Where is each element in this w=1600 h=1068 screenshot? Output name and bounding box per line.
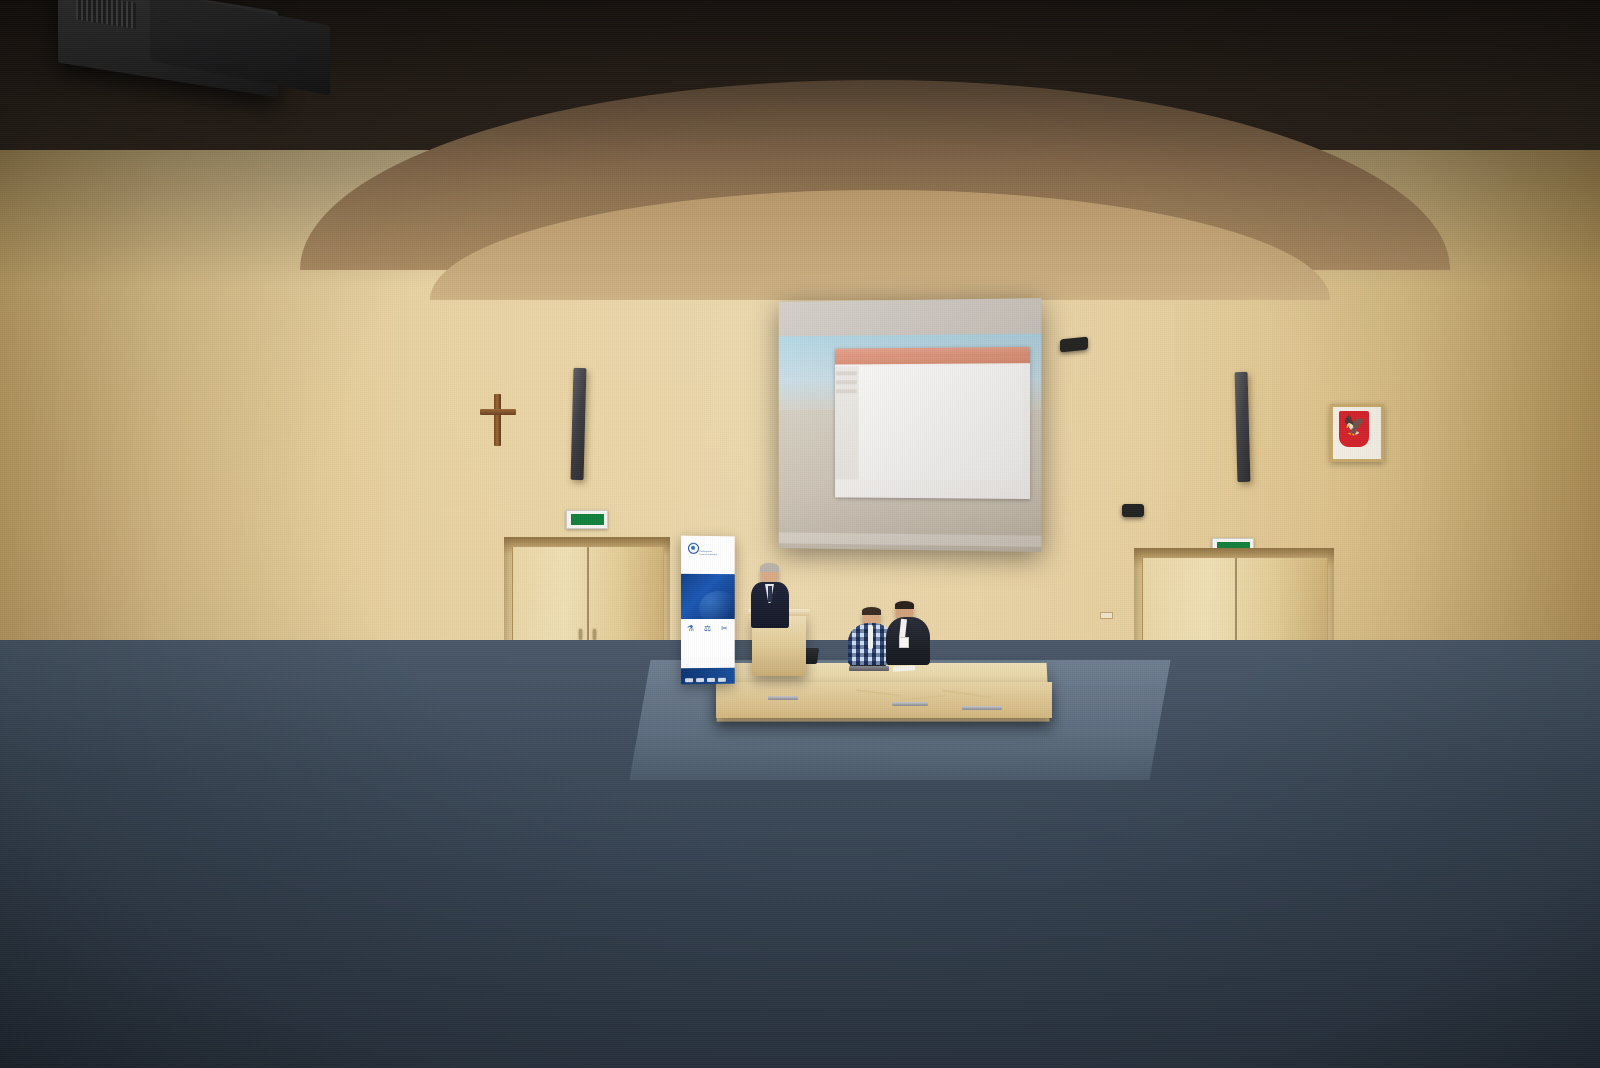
banner-icon-2: ⚖ [702,624,713,634]
banner-header: PodkarpackieCentrum Innowacji [681,536,735,575]
door-handle-left[interactable] [579,629,582,640]
wall-camera [1122,504,1144,517]
projection-screen [779,298,1042,552]
banner-headline-panel [681,574,735,619]
crucifix-icon [478,394,518,446]
banner-icon-1: ⚗ [685,624,696,634]
banner-brand-subtitle: PodkarpackieCentrum Innowacji [699,551,717,557]
exit-sign-left [566,510,608,529]
banner-footer-logos [681,667,735,684]
auditorium-photo: 🦅 [0,0,1600,1068]
badge-lanyard [899,637,909,648]
screen-glare [779,298,1042,552]
desk-cable-b [900,695,946,702]
desk-mic-slot-1 [768,696,798,700]
door-handle-left-2[interactable] [593,629,596,640]
desk-cable-a [856,689,902,697]
scales-icon: ⚖ [702,624,713,634]
pci-rollup-banner: PodkarpackieCentrum Innowacji ⚗ ⚖ ✂ [681,536,735,685]
presidium-table-front [716,682,1052,718]
banner-icon-row: ⚗ ⚖ ✂ [681,619,735,658]
projected-desktop [779,298,1042,552]
wall-switch-plate[interactable] [1100,612,1113,619]
vent-grille [76,0,136,29]
eagle-glyph: 🦅 [1343,415,1365,439]
scissors-icon: ✂ [719,624,730,634]
desk-mic-slot-2 [892,702,928,706]
desk-mic-slot-3 [962,706,1002,710]
pci-logo-icon [688,543,699,554]
banner-icon-3: ✂ [719,624,730,634]
desk-cable-c [942,690,992,699]
organizer-with-lanyard [886,602,932,664]
flask-icon: ⚗ [685,624,696,634]
speaker-at-podium [748,564,792,628]
polish-eagle-coat-of-arms-icon: 🦅 [1330,404,1384,462]
